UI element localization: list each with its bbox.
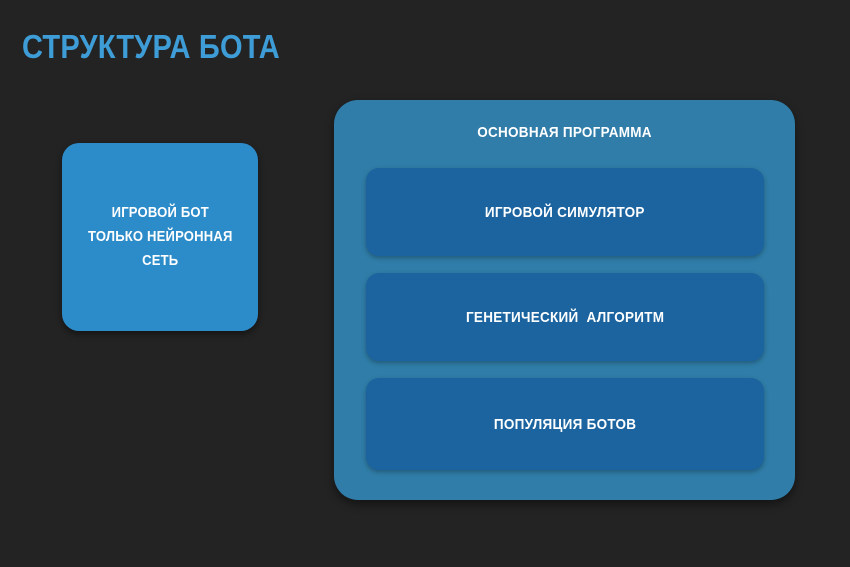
main-program-container: ОСНОВНАЯ ПРОГРАММА ИГРОВОЙ СИМУЛЯТОР ГЕН… <box>334 100 795 500</box>
module-card-label: ГЕНЕТИЧЕСКИЙ АЛГОРИТМ <box>466 308 664 327</box>
module-card-game-simulator: ИГРОВОЙ СИМУЛЯТОР <box>366 168 764 256</box>
module-card-label: ПОПУЛЯЦИЯ БОТОВ <box>494 415 636 434</box>
module-card-bot-population: ПОПУЛЯЦИЯ БОТОВ <box>366 378 764 470</box>
module-card-genetic-algorithm: ГЕНЕТИЧЕСКИЙ АЛГОРИТМ <box>366 273 764 361</box>
page-title: СТРУКТУРА БОТА <box>22 28 280 66</box>
bot-standalone-card-label: ИГРОВОЙ БОТ ТОЛЬКО НЕЙРОННАЯ СЕТЬ <box>88 201 232 273</box>
bot-standalone-card: ИГРОВОЙ БОТ ТОЛЬКО НЕЙРОННАЯ СЕТЬ <box>62 143 258 331</box>
main-program-title: ОСНОВНАЯ ПРОГРАММА <box>357 124 772 142</box>
main-program-module-list: ИГРОВОЙ СИМУЛЯТОР ГЕНЕТИЧЕСКИЙ АЛГОРИТМ … <box>366 168 764 470</box>
module-card-label: ИГРОВОЙ СИМУЛЯТОР <box>485 203 645 222</box>
slide-canvas: СТРУКТУРА БОТА ИГРОВОЙ БОТ ТОЛЬКО НЕЙРОН… <box>0 0 850 567</box>
